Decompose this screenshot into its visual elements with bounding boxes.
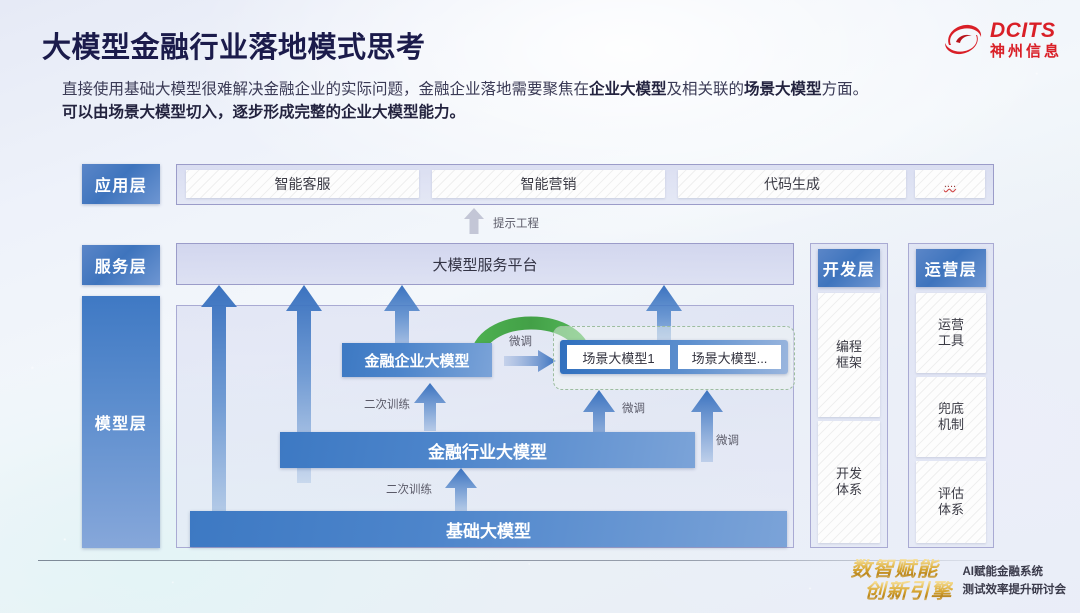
- ops-item-2-line-1: 兜底: [938, 401, 964, 417]
- retrain-label-1: 二次训练: [364, 396, 410, 412]
- logo-cn: 神州信息: [990, 44, 1062, 59]
- enterprise-to-scene-arrow-icon: [504, 350, 556, 372]
- subtitle-bold-enterprise: 企业大模型: [589, 81, 667, 98]
- scene-model-more[interactable]: 场景大模型...: [678, 345, 781, 369]
- swoosh-icon: [943, 21, 983, 59]
- event-brand-line-1: 数智赋能: [851, 559, 953, 581]
- industry-to-enterprise-arrow-icon: [413, 383, 447, 431]
- dcits-logo: DCITS 神州信息: [943, 20, 1062, 59]
- slide-root: 大模型金融行业落地模式思考 直接使用基础大模型很难解决金融企业的实际问题，金融企…: [0, 0, 1080, 613]
- model-to-service-arrow-1-icon: [200, 285, 238, 547]
- logo-text: DCITS 神州信息: [990, 20, 1062, 59]
- ops-item-2-line-2: 机制: [938, 417, 964, 433]
- finetune-label-2: 微调: [622, 400, 645, 416]
- app-item-code-generation[interactable]: 代码生成: [678, 170, 906, 198]
- subtitle-line-2: 可以由场景大模型切入，逐步形成完整的企业大模型能力。: [62, 101, 1022, 124]
- event-logo: 数智赋能 创新引擎: [851, 559, 953, 603]
- dev-item-development-system[interactable]: 开发 体系: [818, 421, 880, 543]
- retrain-label-2: 二次训练: [386, 481, 432, 497]
- enterprise-model-box[interactable]: 金融企业大模型: [342, 343, 492, 377]
- ops-item-fallback-mechanism[interactable]: 兜底 机制: [916, 377, 986, 457]
- finetune-label-1: 微调: [509, 333, 532, 349]
- foundation-model-box[interactable]: 基础大模型: [190, 511, 787, 547]
- app-item-smart-marketing[interactable]: 智能营销: [432, 170, 665, 198]
- scene-models-holder: 场景大模型1 场景大模型...: [560, 340, 788, 374]
- app-item-more[interactable]: ....: [915, 170, 985, 198]
- dev-item-2-line-1: 开发: [836, 466, 862, 482]
- layer-tag-application: 应用层: [82, 164, 160, 204]
- scene-model-1[interactable]: 场景大模型1: [567, 345, 670, 369]
- page-title: 大模型金融行业落地模式思考: [42, 24, 426, 66]
- industry-to-scene-arrow-2-icon: [690, 390, 724, 462]
- dev-item-2-line-2: 体系: [836, 482, 862, 498]
- prompt-engineering-arrow-icon: [463, 208, 485, 234]
- event-branding: 数智赋能 创新引擎 AI赋能金融系统 测试效率提升研讨会: [851, 559, 1067, 603]
- finetune-label-3: 微调: [716, 432, 739, 448]
- subtitle-seg-c: 方面。: [822, 81, 869, 98]
- industry-model-box[interactable]: 金融行业大模型: [280, 432, 695, 468]
- layer-tag-model: 模型层: [82, 296, 160, 548]
- foundation-to-industry-arrow-icon: [444, 468, 478, 512]
- app-item-smart-service[interactable]: 智能客服: [186, 170, 419, 198]
- ops-item-1-line-2: 工具: [938, 333, 964, 349]
- layer-tag-service: 服务层: [82, 245, 160, 285]
- event-title-line-1: AI赋能金融系统: [963, 563, 1067, 581]
- ops-item-evaluation-system[interactable]: 评估 体系: [916, 461, 986, 543]
- page-subtitle: 直接使用基础大模型很难解决金融企业的实际问题，金融企业落地需要聚焦在企业大模型及…: [62, 78, 1022, 124]
- dev-item-1-line-1: 编程: [836, 339, 862, 355]
- subtitle-seg-a: 直接使用基础大模型很难解决金融企业的实际问题，金融企业落地需要聚焦在: [62, 81, 589, 98]
- layer-tag-ops: 运营层: [916, 249, 986, 287]
- subtitle-bold-scene: 场景大模型: [744, 81, 822, 98]
- ops-item-1-line-1: 运营: [938, 317, 964, 333]
- dev-item-1-line-2: 框架: [836, 355, 862, 371]
- subtitle-line-1: 直接使用基础大模型很难解决金融企业的实际问题，金融企业落地需要聚焦在企业大模型及…: [62, 78, 1022, 101]
- service-platform-bar[interactable]: 大模型服务平台: [176, 243, 794, 285]
- event-title-line-2: 测试效率提升研讨会: [963, 581, 1067, 599]
- subtitle-seg-b: 及相关联的: [667, 81, 745, 98]
- prompt-engineering-label: 提示工程: [493, 215, 539, 231]
- event-title: AI赋能金融系统 测试效率提升研讨会: [963, 563, 1067, 600]
- ops-item-3-line-1: 评估: [938, 486, 964, 502]
- layer-tag-dev: 开发层: [818, 249, 880, 287]
- ops-item-operation-tools[interactable]: 运营 工具: [916, 293, 986, 373]
- dev-item-programming-framework[interactable]: 编程 框架: [818, 293, 880, 417]
- logo-en: DCITS: [990, 20, 1062, 41]
- event-brand-line-2: 创新引擎: [865, 581, 953, 603]
- ops-item-3-line-2: 体系: [938, 502, 964, 518]
